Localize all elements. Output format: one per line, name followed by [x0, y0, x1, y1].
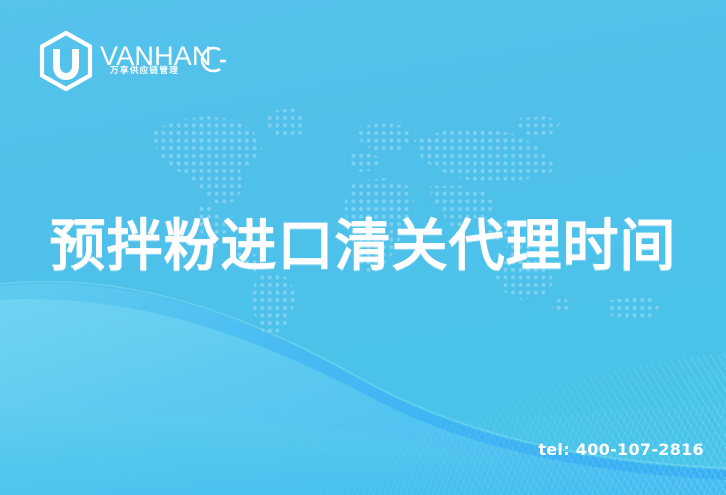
brand-wordmark-group: VANHAN 万享供应链管理 [100, 30, 226, 92]
banner-root: VANHAN 万享供应链管理 预拌粉进口清关代理时间 tel: 400-107-… [0, 0, 726, 495]
brand-logo[interactable]: VANHAN 万享供应链管理 [36, 30, 226, 92]
page-title: 预拌粉进口清关代理时间 [0, 212, 726, 282]
brand-subtitle: 万享供应链管理 [110, 63, 179, 76]
hexagon-u-logo-icon [36, 30, 96, 92]
contact-telephone[interactable]: tel: 400-107-2816 [538, 440, 704, 459]
